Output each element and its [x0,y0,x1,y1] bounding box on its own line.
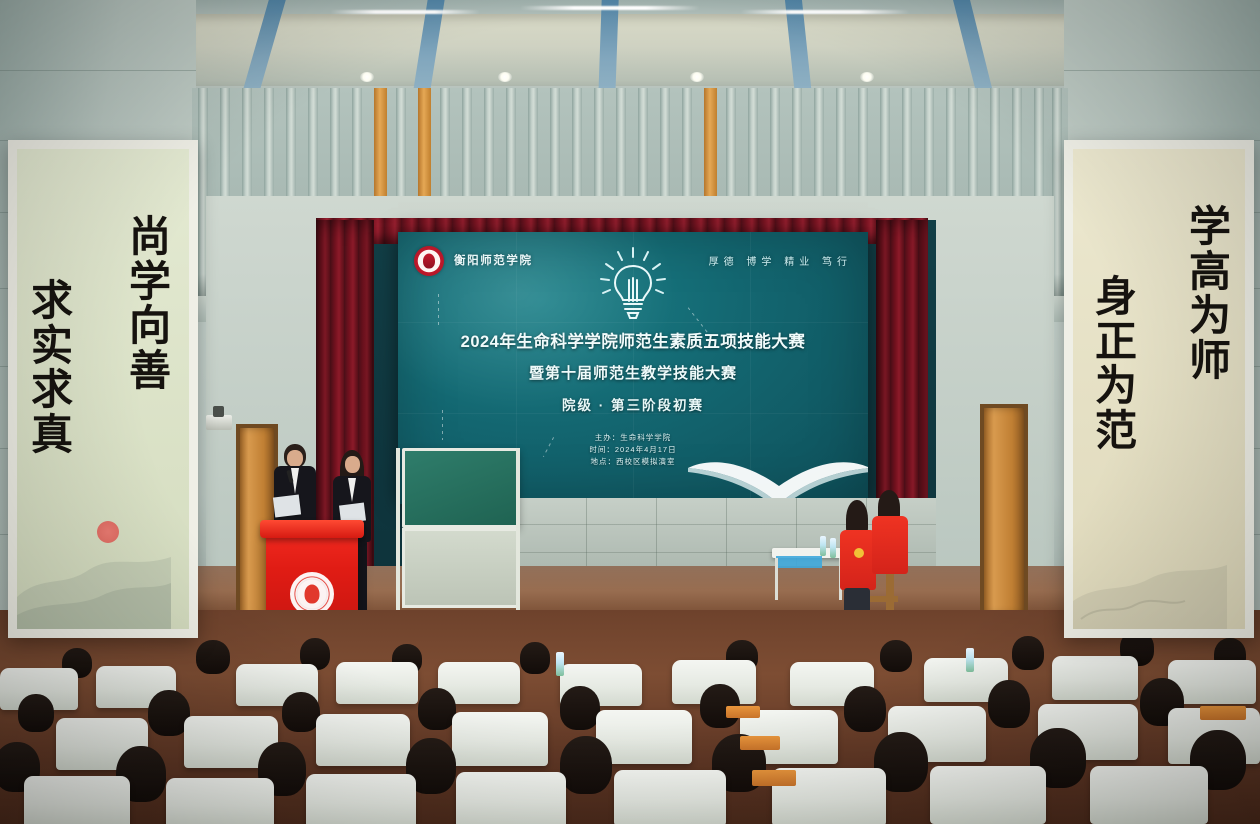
scroll-right-col-right: 学高为师 [1189,205,1231,383]
calligraphy-char: 学 [129,260,171,305]
led-title-line3: 院级 · 第三阶段初赛 [398,394,868,414]
audience-seat [306,774,416,824]
led-title-block: 2024年生命科学学院师范生素质五项技能大赛 暨第十届师范生教学技能大赛 院级 … [398,328,868,414]
audience-seat [24,776,130,824]
water-bottle [966,648,974,672]
vest-logo [854,548,864,558]
calligraphy-scroll-left: 尚学向善 求实求真 [8,140,198,638]
audience-head [560,686,600,730]
recessed-ceiling-light [360,72,374,82]
chalkboard-lower-panel [402,528,520,608]
aisle-bench [752,770,796,786]
auditorium-photo: 衡阳师范学院 厚德 博学 精业 笃行 [0,0,1260,824]
calligraphy-char: 为 [1095,364,1137,409]
audience-head [988,680,1030,728]
calligraphy-char: 向 [129,304,171,349]
ink-mountain-painting [17,479,171,629]
calligraphy-char: 学 [1189,205,1231,250]
blue-table-cloth [776,556,822,568]
volunteer-table [772,548,846,600]
led-university-name: 衡阳师范学院 [454,252,533,268]
audience-seat [166,778,274,824]
volunteer-student-back [872,490,910,610]
university-emblem-icon [414,246,444,276]
audience-seat [1090,766,1208,824]
audience-head [282,692,320,732]
ceiling-strip-light [740,10,910,14]
audience-head [880,640,912,672]
recessed-ceiling-light [860,72,874,82]
recessed-ceiling-light [498,72,512,82]
right-door[interactable] [984,408,1024,614]
audience-seat [1052,656,1138,700]
water-bottle [820,536,826,556]
wall-camera-bracket [206,415,232,430]
led-title-line1: 2024年生命科学学院师范生素质五项技能大赛 [398,328,868,352]
decor-dotted-line [438,294,439,328]
ceiling-strip-light [330,10,480,14]
calligraphy-char: 实 [31,324,73,369]
lightbulb-icon [596,244,670,328]
audience-head [560,736,612,794]
calligraphy-char: 求 [31,279,73,324]
aisle-bench [740,736,780,750]
calligraphy-char: 身 [1095,275,1137,320]
calligraphy-char: 范 [1095,409,1137,454]
host-script-paper [273,494,301,517]
podium-top [260,520,364,538]
calligraphy-char: 师 [1189,339,1231,384]
water-bottle [830,538,836,558]
led-title-line2: 暨第十届师范生教学技能大赛 [398,362,868,383]
audience-seat [452,712,548,766]
calligraphy-char: 真 [31,413,73,458]
open-book-icon [684,438,868,504]
audience-head [844,686,886,732]
audience-head [418,688,456,730]
red-volunteer-vest [840,530,876,590]
calligraphy-scroll-right: 学高为师 身正为范 [1064,140,1254,638]
audience-area [0,610,1260,824]
audience-seat [456,772,566,824]
aisle-bench [1200,706,1246,720]
audience-head [18,694,54,732]
aisle-bench [726,706,760,718]
calligraphy-char: 尚 [129,215,171,260]
red-volunteer-vest [872,516,908,574]
recessed-ceiling-light [690,72,704,82]
calligraphy-char: 求 [31,368,73,413]
audience-seat [930,766,1046,824]
ceiling-baffle [598,0,618,96]
red-sun-ink [97,521,119,543]
audience-head [1012,636,1044,670]
water-bottle [556,652,564,676]
scroll-right-col-left: 身正为范 [1095,275,1137,453]
calligraphy-char: 善 [129,349,171,394]
ceiling-slab [188,14,1074,86]
audience-seat [316,714,410,766]
audience-seat [336,662,418,704]
green-chalkboard-surface [402,448,520,528]
calligraphy-char: 高 [1189,250,1231,295]
audience-seat [614,770,726,824]
ceiling-strip-light [520,6,700,10]
calligraphy-char: 为 [1189,294,1231,339]
mobile-chalkboard [396,444,520,628]
calligraphy-char: 正 [1095,320,1137,365]
scroll-left-col-left: 求实求真 [31,279,73,457]
audience-head [520,642,550,674]
audience-head [196,640,230,674]
led-motto: 厚德 博学 精业 笃行 [709,253,852,268]
ink-lotus-painting [1073,479,1227,629]
scroll-left-col-right: 尚学向善 [129,215,171,393]
